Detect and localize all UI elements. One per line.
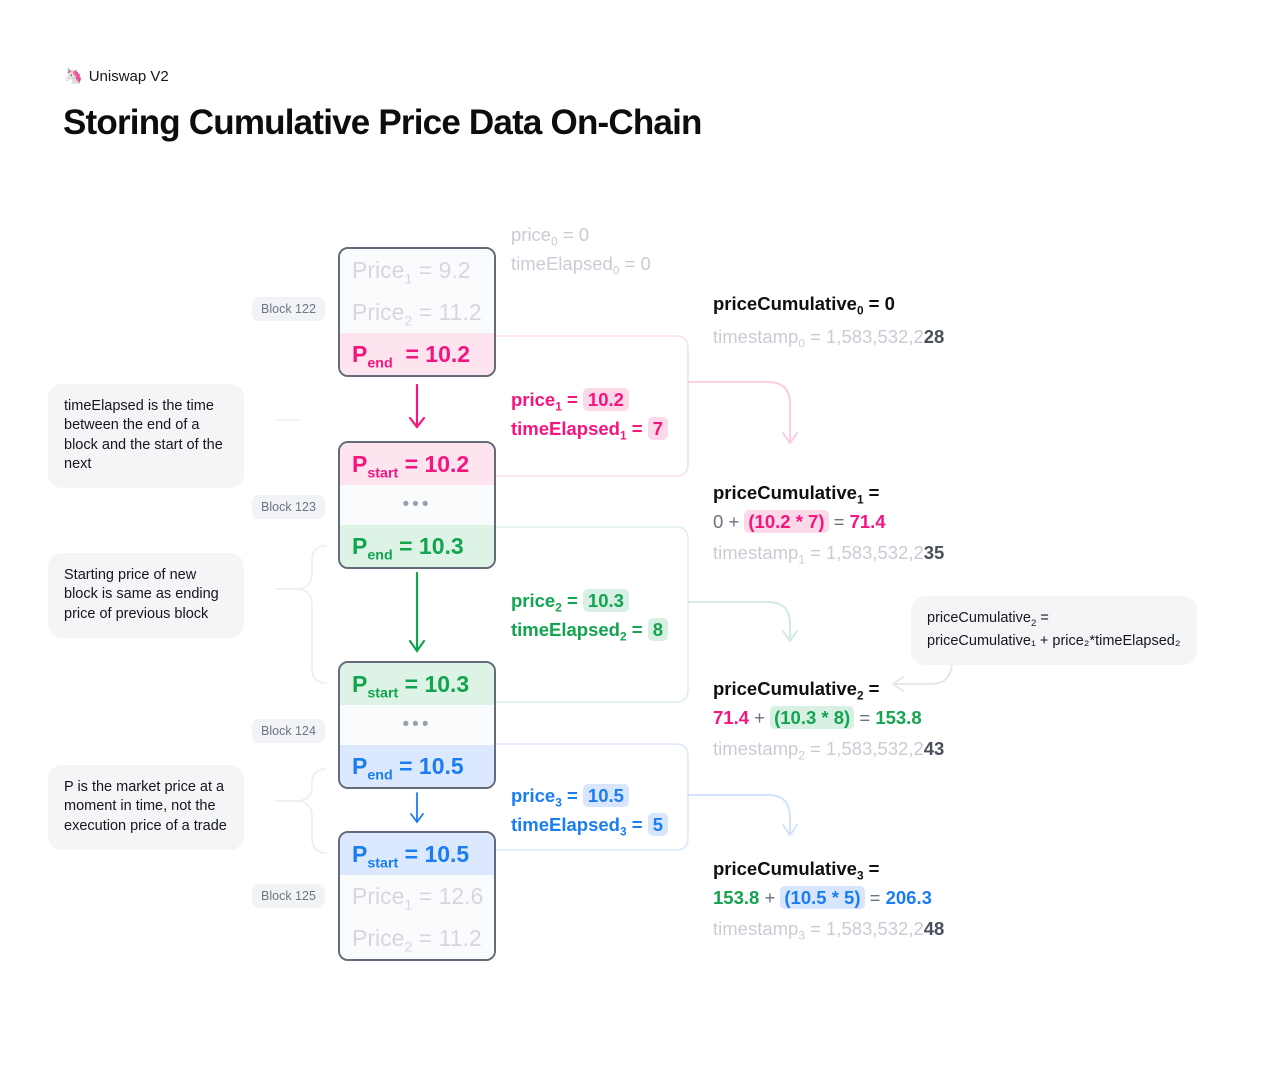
- connector-lines: [0, 0, 1280, 1088]
- block-label-123: Block 123: [252, 495, 325, 519]
- timestamp-line: timestamp3 = 1,583,532,248: [713, 918, 944, 943]
- block-row-p-end: Pend = 10.3: [340, 525, 494, 567]
- block-card-123[interactable]: Pstart = 10.2 ••• Pend = 10.3: [338, 441, 496, 569]
- unicorn-icon: 🦄: [64, 69, 83, 84]
- block-row: Price1 = 12.6: [340, 875, 494, 917]
- block-row-ellipsis: •••: [340, 485, 494, 525]
- timestamp-line: timestamp0 = 1,583,532,228: [713, 326, 944, 351]
- diagram-canvas: 🦄 Uniswap V2 Storing Cumulative Price Da…: [0, 0, 1280, 1088]
- cumulative-group-1: priceCumulative1 = 0 + (10.2 * 7) = 71.4…: [713, 480, 944, 566]
- time-elapsed-line: timeElapsed0 = 0: [511, 251, 651, 280]
- timestamp-line: timestamp1 = 1,583,532,235: [713, 542, 944, 567]
- callout-time-elapsed: timeElapsed is the time between the end …: [48, 384, 244, 488]
- cumulative-group-3: priceCumulative3 = 153.8 + (10.5 * 5) = …: [713, 856, 944, 942]
- brand-label: Uniswap V2: [89, 68, 169, 85]
- time-elapsed-line: timeElapsed3 = 5: [511, 812, 668, 841]
- cumulative-head: priceCumulative3 =: [713, 856, 944, 885]
- formula-note: priceCumulative2 = priceCumulative₁ + pr…: [911, 596, 1197, 665]
- block-card-124[interactable]: Pstart = 10.3 ••• Pend = 10.5: [338, 661, 496, 789]
- timestamp-line: timestamp2 = 1,583,532,243: [713, 738, 944, 763]
- cumulative-group-0: priceCumulative0 = 0 timestamp0 = 1,583,…: [713, 291, 944, 351]
- cumulative-expression: 71.4 + (10.3 * 8) = 153.8: [713, 705, 944, 732]
- cumulative-expression: 153.8 + (10.5 * 5) = 206.3: [713, 885, 944, 912]
- block-card-125[interactable]: Pstart = 10.5 Price1 = 12.6 Price2 = 11.…: [338, 831, 496, 961]
- price-line: price0 = 0: [511, 222, 651, 251]
- page-title: Storing Cumulative Price Data On-Chain: [63, 103, 702, 143]
- interval-label-3: price3 = 10.5 timeElapsed3 = 5: [511, 783, 668, 841]
- block-row: Price1 = 9.2: [340, 249, 494, 291]
- brand: 🦄 Uniswap V2: [64, 68, 169, 85]
- block-row-p-start: Pstart = 10.2: [340, 443, 494, 485]
- price-line: price2 = 10.3: [511, 588, 668, 617]
- callout-starting-price: Starting price of new block is same as e…: [48, 553, 244, 638]
- cumulative-group-2: priceCumulative2 = 71.4 + (10.3 * 8) = 1…: [713, 676, 944, 762]
- block-row: Price2 = 11.2: [340, 291, 494, 333]
- interval-label-0: price0 = 0 timeElapsed0 = 0: [511, 222, 651, 280]
- interval-label-1: price1 = 10.2 timeElapsed1 = 7: [511, 387, 668, 445]
- block-row-p-end: Pend = 10.2: [340, 333, 494, 375]
- block-card-122[interactable]: Price1 = 9.2 Price2 = 11.2 Pend = 10.2: [338, 247, 496, 377]
- block-row: Price2 = 11.2: [340, 917, 494, 959]
- block-label-125: Block 125: [252, 884, 325, 908]
- block-row-p-start: Pstart = 10.5: [340, 833, 494, 875]
- block-row-p-start: Pstart = 10.3: [340, 663, 494, 705]
- cumulative-head: priceCumulative1 =: [713, 480, 944, 509]
- formula-line-1: priceCumulative2 =: [927, 608, 1181, 631]
- block-label-122: Block 122: [252, 297, 325, 321]
- interval-label-2: price2 = 10.3 timeElapsed2 = 8: [511, 588, 668, 646]
- time-elapsed-line: timeElapsed1 = 7: [511, 416, 668, 445]
- price-line: price3 = 10.5: [511, 783, 668, 812]
- price-line: price1 = 10.2: [511, 387, 668, 416]
- cumulative-head: priceCumulative0 = 0: [713, 291, 944, 320]
- callout-market-price: P is the market price at a moment in tim…: [48, 765, 244, 850]
- cumulative-expression: 0 + (10.2 * 7) = 71.4: [713, 509, 944, 536]
- block-row-ellipsis: •••: [340, 705, 494, 745]
- block-label-124: Block 124: [252, 719, 325, 743]
- cumulative-head: priceCumulative2 =: [713, 676, 944, 705]
- time-elapsed-line: timeElapsed2 = 8: [511, 617, 668, 646]
- block-row-p-end: Pend = 10.5: [340, 745, 494, 787]
- formula-line-2: priceCumulative₁ + price₂*timeElapsed₂: [927, 631, 1181, 652]
